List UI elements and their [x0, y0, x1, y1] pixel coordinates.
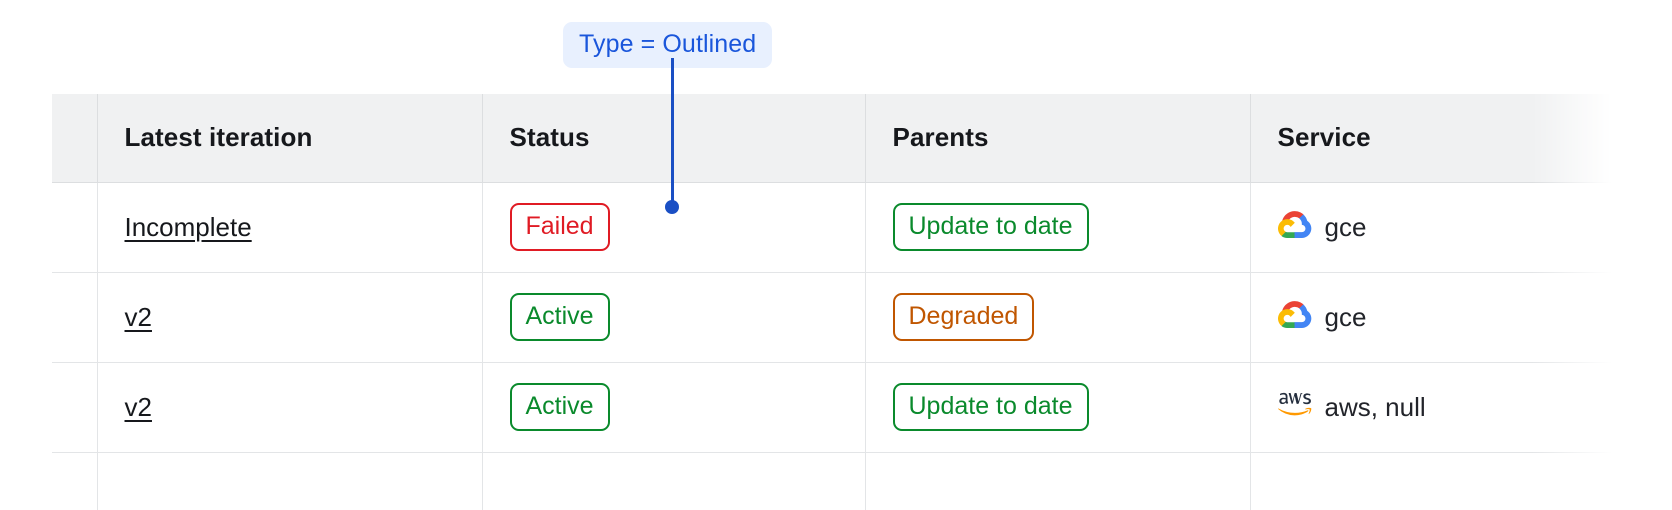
cell-parents: Degraded [865, 272, 1250, 362]
google-cloud-icon [1278, 210, 1312, 245]
aws-icon [1278, 391, 1312, 424]
cell-status: Active [482, 362, 865, 452]
column-header-latest-iteration[interactable]: Latest iteration [97, 94, 482, 182]
cell-latest-iteration: v2 [97, 362, 482, 452]
status-badge: Failed [510, 203, 610, 251]
status-table: Latest iteration Status Parents Service … [52, 94, 1612, 510]
service-label: gce [1325, 302, 1367, 333]
row-spacer-cell [52, 182, 97, 272]
table-header: Latest iteration Status Parents Service [52, 94, 1612, 182]
iteration-link[interactable]: v2 [125, 302, 152, 332]
annotation-label: Type = Outlined [563, 22, 772, 68]
table-row[interactable]: v2 Active Degraded [52, 272, 1612, 362]
table-body: Incomplete Failed Update to date [52, 182, 1612, 510]
status-badge: Active [510, 383, 610, 431]
table-row[interactable]: v2 Active Update to date [52, 362, 1612, 452]
cell-latest-iteration [97, 452, 482, 510]
status-badge: Active [510, 293, 610, 341]
table-row[interactable]: Incomplete Failed Update to date [52, 182, 1612, 272]
cell-service: gce [1250, 182, 1612, 272]
column-header-spacer [52, 94, 97, 182]
parents-badge: Degraded [893, 293, 1035, 341]
parents-badge: Update to date [893, 203, 1089, 251]
cell-status: Active [482, 272, 865, 362]
parents-badge: Update to date [893, 383, 1089, 431]
cell-parents [865, 452, 1250, 510]
service-label: aws, null [1325, 392, 1426, 423]
cell-latest-iteration: Incomplete [97, 182, 482, 272]
row-spacer-cell [52, 362, 97, 452]
cell-service: gce [1250, 272, 1612, 362]
cell-service: aws, null [1250, 362, 1612, 452]
cell-latest-iteration: v2 [97, 272, 482, 362]
column-header-parents[interactable]: Parents [865, 94, 1250, 182]
iteration-link[interactable]: v2 [125, 392, 152, 422]
cell-status: Failed [482, 182, 865, 272]
iteration-link[interactable]: Incomplete [125, 212, 252, 242]
cell-status [482, 452, 865, 510]
google-cloud-icon [1278, 300, 1312, 335]
table-row[interactable] [52, 452, 1612, 510]
row-spacer-cell [52, 272, 97, 362]
table-scroll-container: Latest iteration Status Parents Service … [52, 94, 1612, 510]
column-header-status[interactable]: Status [482, 94, 865, 182]
row-spacer-cell [52, 452, 97, 510]
cell-parents: Update to date [865, 182, 1250, 272]
service-label: gce [1325, 212, 1367, 243]
table-header-row: Latest iteration Status Parents Service [52, 94, 1612, 182]
column-header-service[interactable]: Service [1250, 94, 1612, 182]
cell-parents: Update to date [865, 362, 1250, 452]
cell-service [1250, 452, 1612, 510]
